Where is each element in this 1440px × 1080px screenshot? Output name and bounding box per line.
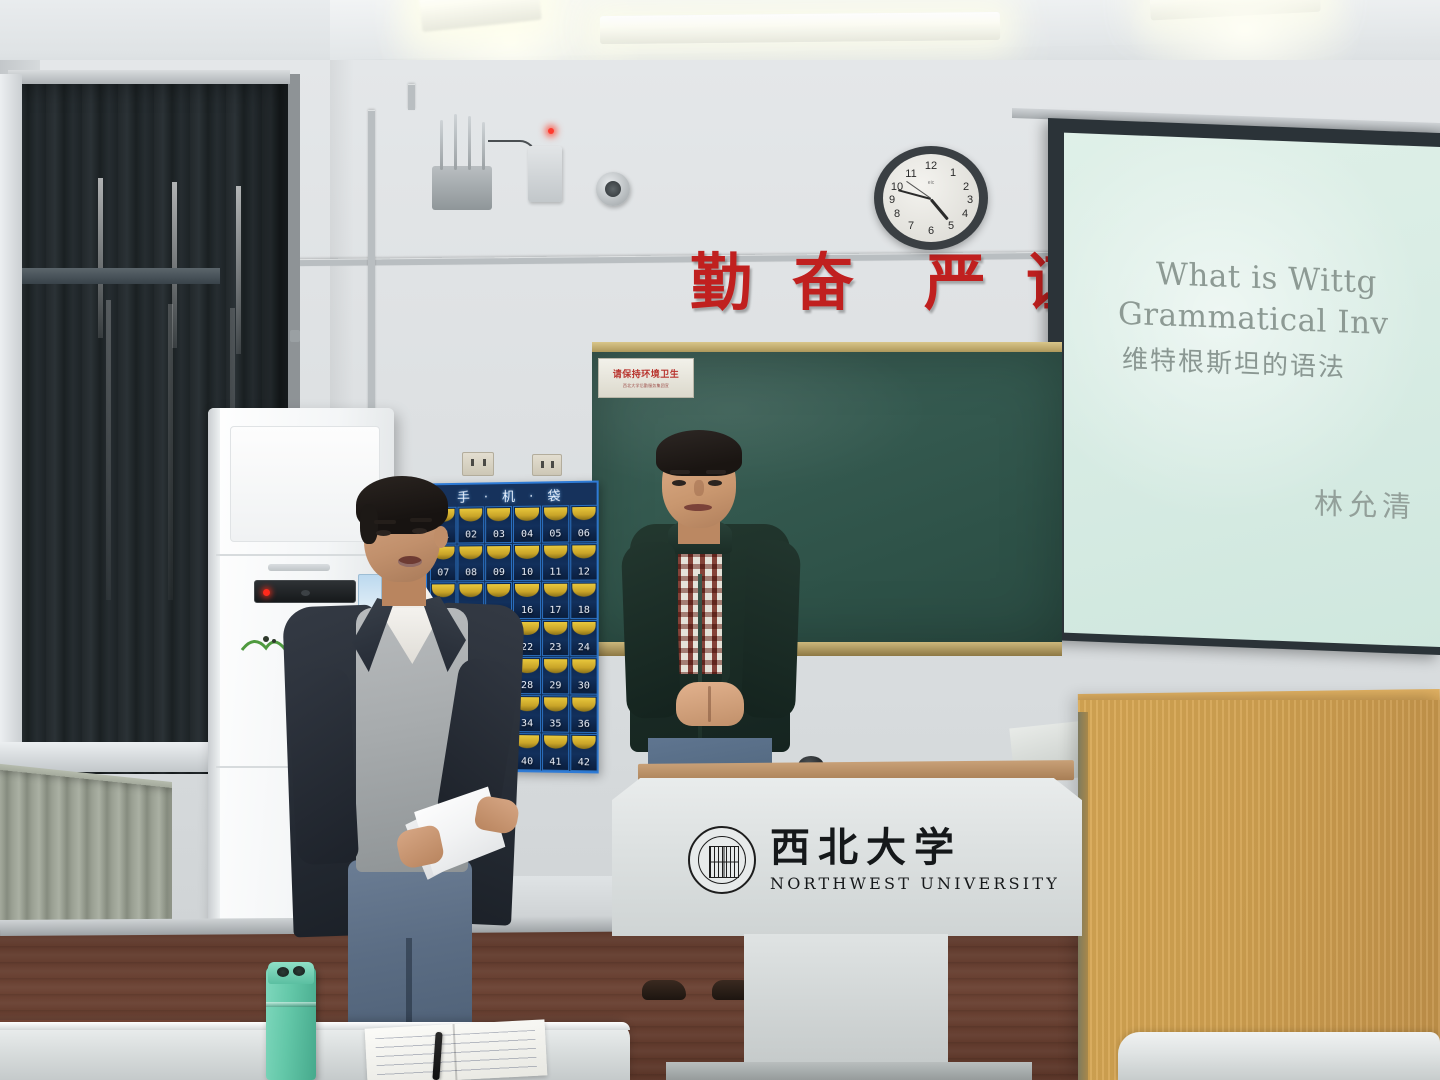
clock-numeral: 4 (962, 208, 968, 220)
curtain-rail (8, 70, 290, 84)
outlet-slot (483, 459, 486, 466)
eyebrow (374, 520, 396, 524)
phone-pocket-06[interactable]: 06 (570, 505, 598, 542)
arm-left (287, 667, 359, 866)
hair (656, 430, 742, 476)
jammer-antenna (482, 122, 485, 170)
phone-pocket-number: 35 (549, 719, 561, 732)
mouth (684, 504, 712, 511)
clock-numeral: 9 (889, 194, 895, 206)
phone-pocket-12[interactable]: 12 (570, 543, 598, 580)
university-logo: 西北大学 NORTHWEST UNIVERSITY (688, 812, 1018, 908)
curtain-light-gap (168, 304, 173, 600)
thermos-band (266, 1002, 316, 1007)
outlet-slot (471, 459, 474, 466)
classroom-scene: 勤 奋 严 谨 eic 12 1 2 3 4 5 6 7 8 9 10 11 (0, 0, 1440, 1080)
slogan-char: 勤 (690, 252, 752, 314)
clock-numeral: 6 (928, 225, 934, 237)
phone-pocket-number: 30 (578, 681, 590, 694)
clock-numeral: 2 (963, 181, 969, 193)
wall-hook (290, 330, 300, 342)
window-jamb (0, 74, 22, 774)
phone-pocket-number: 41 (549, 757, 561, 770)
clock-numeral: 1 (950, 167, 956, 179)
conduit-pipe-riser (408, 84, 415, 110)
phone-pocket-23[interactable]: 23 (542, 620, 569, 657)
phone-pocket-number: 23 (549, 642, 561, 655)
slogan-group-1: 勤 奋 (690, 252, 854, 314)
phone-pocket-30[interactable]: 30 (570, 658, 598, 695)
clock-numeral: 8 (894, 208, 900, 220)
clock-numeral: 7 (908, 220, 914, 232)
wood-grain (1078, 700, 1440, 1080)
phone-pocket-35[interactable]: 35 (542, 696, 569, 733)
desk-right (1118, 1032, 1440, 1080)
phone-pocket-number: 29 (549, 681, 561, 694)
clock-numeral: 3 (967, 194, 973, 206)
phone-pocket-number: 12 (578, 566, 590, 579)
clock-brand-label: eic (928, 180, 934, 186)
screen-glow (1064, 133, 1440, 648)
eye (672, 480, 686, 486)
ac-power-led-icon (263, 589, 270, 596)
notice-line-2: 西北大学后勤服务集团宣 (623, 383, 669, 389)
arm-right (741, 539, 801, 719)
phone-pocket-24[interactable]: 24 (570, 619, 598, 656)
phone-pocket-number: 24 (578, 643, 590, 656)
university-seal-icon (688, 826, 756, 894)
phone-pocket-41[interactable]: 41 (542, 734, 569, 771)
slide-title: What is Wittg Grammatical Inv (1156, 254, 1440, 352)
clock-numeral: 12 (925, 160, 937, 172)
outlet-slot (551, 461, 554, 468)
phone-pocket-number: 06 (578, 528, 590, 541)
phone-pocket-number: 18 (578, 604, 590, 617)
wood-panel (1078, 700, 1440, 1080)
curtain-light-gap (106, 300, 111, 600)
curtain-light-gap (236, 186, 241, 354)
power-adapter (528, 146, 562, 202)
phone-pocket-05[interactable]: 05 (542, 505, 569, 542)
jammer-antenna (468, 116, 471, 170)
ac-side-edge (208, 408, 220, 986)
eye (708, 480, 722, 486)
jammer-antenna (440, 120, 443, 170)
thermos-opening (277, 967, 289, 977)
eyebrow (670, 470, 690, 474)
university-name-cn: 西北大学 (770, 828, 1060, 868)
thermos-cap (268, 962, 314, 984)
clock-numeral: 5 (948, 220, 954, 232)
clock-face: eic 12 1 2 3 4 5 6 7 8 9 10 11 (883, 154, 979, 242)
phone-pocket-number: 36 (578, 719, 590, 732)
person-standing-center (614, 424, 810, 784)
projection-screen: What is Wittg Grammatical Inv 维特根斯坦的语法 林… (1064, 133, 1440, 648)
ceiling-speaker-icon (596, 172, 630, 206)
thermos-opening (293, 966, 305, 976)
notice-line-1: 请保持环境卫生 (613, 367, 680, 380)
fluorescent-tube-light (600, 12, 1000, 44)
eyebrow (706, 470, 726, 474)
eye (376, 530, 391, 536)
phone-pocket-42[interactable]: 42 (570, 734, 598, 772)
eyebrow (410, 518, 432, 522)
ear (434, 526, 448, 548)
phone-pocket-number: 05 (549, 528, 561, 541)
hand-separation (708, 686, 711, 722)
person-speaker-left (282, 468, 532, 1080)
nose (694, 480, 704, 496)
podium-base (666, 1062, 1032, 1080)
phone-pocket-number: 17 (549, 604, 561, 617)
wall-clock: eic 12 1 2 3 4 5 6 7 8 9 10 11 (874, 146, 988, 250)
phone-pocket-11[interactable]: 11 (542, 543, 569, 580)
power-led-indicator (548, 128, 554, 134)
jammer-antenna (454, 114, 457, 170)
phone-pocket-number: 11 (549, 566, 561, 579)
phone-pocket-number: 42 (578, 757, 590, 770)
university-name-block: 西北大学 NORTHWEST UNIVERSITY (770, 828, 1060, 893)
slide-author: 林允清 (1314, 480, 1416, 526)
university-name-en: NORTHWEST UNIVERSITY (770, 874, 1060, 893)
eye (412, 528, 427, 534)
hair (356, 476, 448, 534)
wall-slogan: 勤 奋 严 谨 (690, 252, 1088, 314)
phone-pocket-17[interactable]: 17 (542, 581, 569, 618)
seal-shield-icon (709, 846, 739, 878)
power-outlet[interactable] (532, 454, 562, 476)
slogan-char: 严 (924, 252, 986, 314)
slogan-char: 奋 (792, 252, 854, 314)
open-notebook (365, 1019, 548, 1080)
cleanliness-notice-sign: 请保持环境卫生 西北大学后勤服务集团宣 (598, 358, 694, 398)
clock-hour-hand (930, 199, 949, 221)
conduit-pipe-vertical (368, 110, 375, 420)
projection-screen-frame: What is Wittg Grammatical Inv 维特根斯坦的语法 林… (1048, 118, 1440, 655)
window-mullion (12, 268, 220, 284)
outlet-slot (541, 461, 544, 468)
lectern-podium: 西北大学 NORTHWEST UNIVERSITY (612, 762, 1082, 1080)
phone-pocket-18[interactable]: 18 (570, 581, 598, 618)
curtain-light-gap (98, 178, 103, 338)
arm-left (621, 541, 681, 719)
clock-numeral: 11 (905, 168, 916, 180)
phone-pocket-36[interactable]: 36 (570, 696, 598, 733)
mouth-open-speaking (398, 556, 422, 567)
podium-column (744, 934, 948, 1080)
signal-jammer (432, 166, 492, 210)
phone-pocket-29[interactable]: 29 (542, 658, 569, 695)
